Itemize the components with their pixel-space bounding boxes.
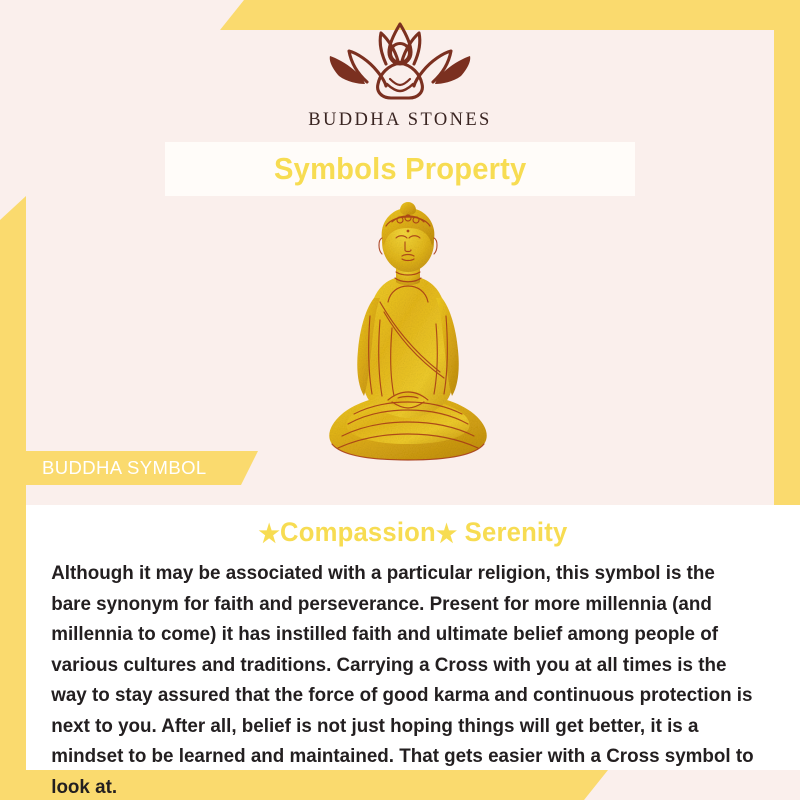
subheading-term-compassion: Compassion [280,517,436,547]
star-icon-left: ★ [259,520,280,548]
content-card: ★Compassion★ Serenity Although it may be… [26,505,800,770]
subheading-term-serenity: Serenity [457,517,567,547]
page-title: Symbols Property [274,151,526,187]
brand-wordmark: BUDDHA STONES [0,110,800,131]
brand-logo: BUDDHA STONES [0,18,800,131]
lotus-meditation-figure-icon [315,18,485,104]
content-subheading: ★Compassion★ Serenity [45,505,780,549]
buddha-statue-image [308,198,508,490]
seated-golden-buddha-statue-icon [308,198,508,490]
section-ribbon-label: BUDDHA SYMBOL [20,457,207,479]
section-ribbon-buddha-symbol: BUDDHA SYMBOL [20,451,258,485]
star-icon-right: ★ [436,520,457,548]
content-paragraph: Although it may be associated with a par… [26,549,777,800]
title-banner: Symbols Property [165,142,635,196]
poster-canvas: BUDDHA STONES Symbols Property [0,0,800,800]
